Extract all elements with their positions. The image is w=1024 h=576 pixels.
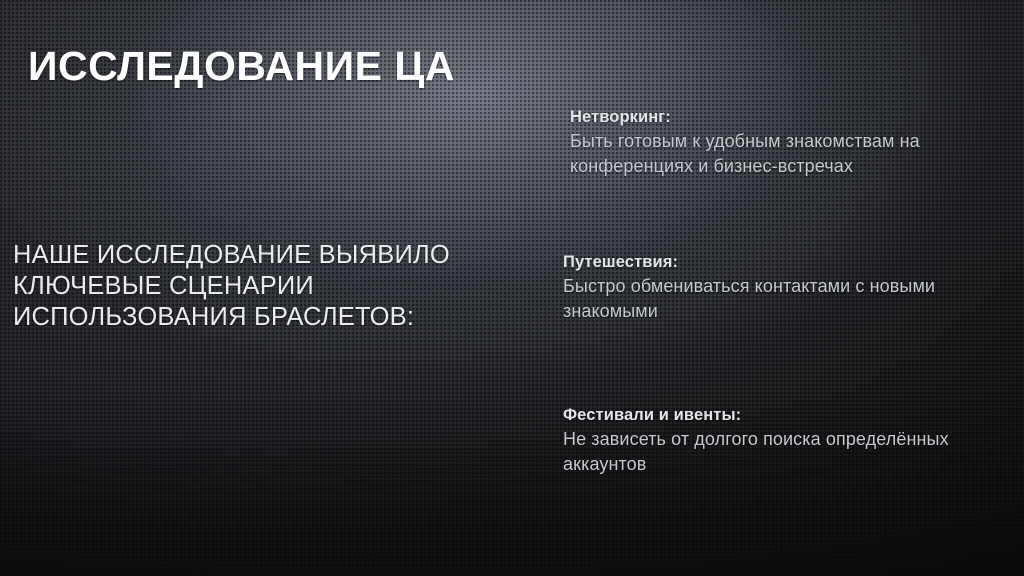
scenario-description: Быть готовым к удобным знакомствам на ко… xyxy=(570,129,970,178)
scenario-item-networking: Нетворкинг: Быть готовым к удобным знако… xyxy=(570,106,970,178)
scenario-title: Путешествия: xyxy=(563,251,963,273)
scenario-item-travel: Путешествия: Быстро обмениваться контакт… xyxy=(563,251,963,323)
lead-statement: НАШЕ ИССЛЕДОВАНИЕ ВЫЯВИЛО КЛЮЧЕВЫЕ СЦЕНА… xyxy=(13,240,553,333)
scenario-title: Фестивали и ивенты: xyxy=(563,404,963,426)
scenario-description: Не зависеть от долгого поиска определённ… xyxy=(563,427,963,476)
scenario-description: Быстро обмениваться контактами с новыми … xyxy=(563,274,963,323)
slide-title: ИССЛЕДОВАНИЕ ЦА xyxy=(28,44,455,89)
scenario-item-festivals: Фестивали и ивенты: Не зависеть от долго… xyxy=(563,404,963,476)
scenario-title: Нетворкинг: xyxy=(570,106,970,128)
slide-content: ИССЛЕДОВАНИЕ ЦА НАШЕ ИССЛЕДОВАНИЕ ВЫЯВИЛ… xyxy=(0,0,1024,576)
presentation-slide: ИССЛЕДОВАНИЕ ЦА НАШЕ ИССЛЕДОВАНИЕ ВЫЯВИЛ… xyxy=(0,0,1024,576)
